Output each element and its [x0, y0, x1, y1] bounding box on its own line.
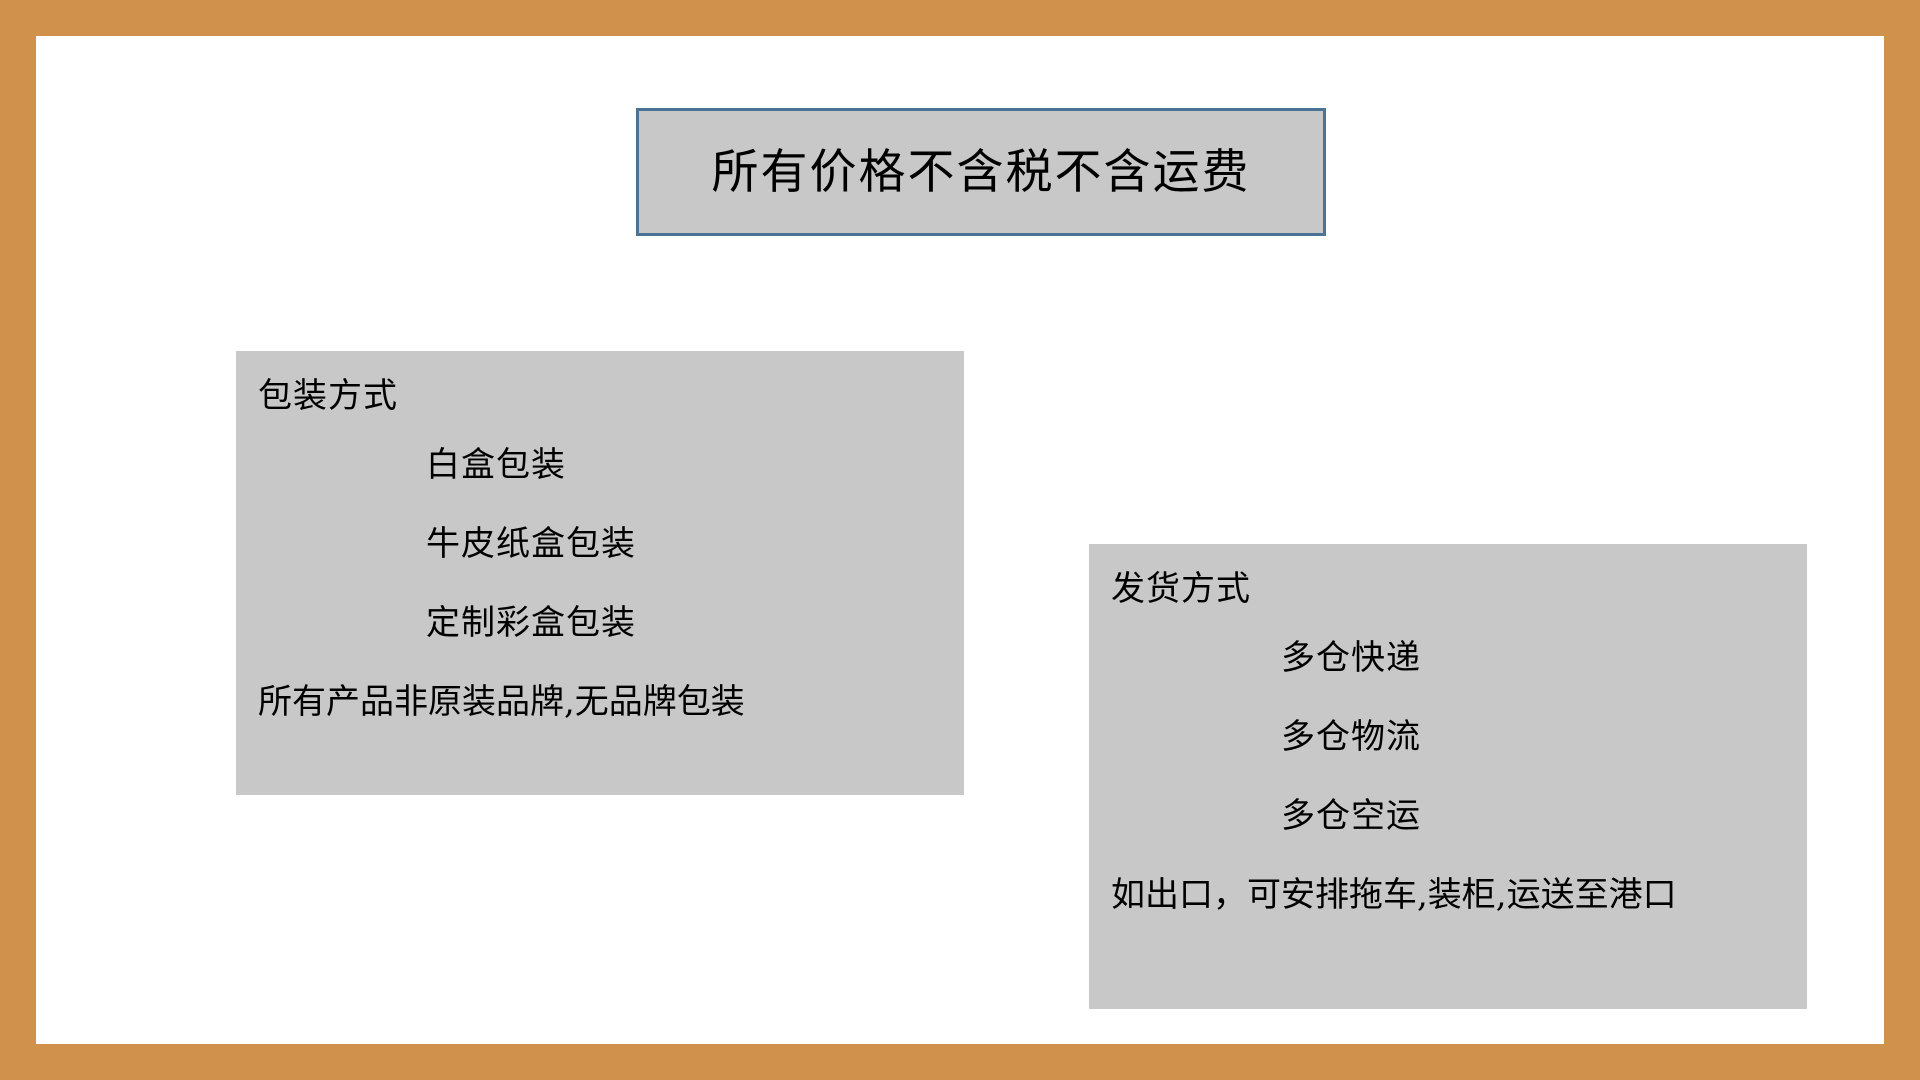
shipping-method-panel: 发货方式 多仓快递 多仓物流 多仓空运 如出口，可安排拖车,装柜,运送至港口: [1089, 544, 1807, 1009]
packaging-method-panel: 包装方式 白盒包装 牛皮纸盒包装 定制彩盒包装 所有产品非原装品牌,无品牌包装: [236, 351, 964, 795]
packaging-item-white-box: 白盒包装: [258, 446, 942, 485]
packaging-heading: 包装方式: [258, 377, 942, 416]
packaging-note: 所有产品非原装品牌,无品牌包装: [258, 683, 942, 722]
slide-canvas: 所有价格不含税不含运费 包装方式 白盒包装 牛皮纸盒包装 定制彩盒包装 所有产品…: [36, 36, 1884, 1044]
title-banner: 所有价格不含税不含运费: [636, 108, 1326, 236]
shipping-item-air-freight: 多仓空运: [1111, 797, 1789, 836]
packaging-item-custom-color-box: 定制彩盒包装: [258, 604, 942, 643]
shipping-item-express: 多仓快递: [1111, 639, 1789, 678]
shipping-note: 如出口，可安排拖车,装柜,运送至港口: [1111, 876, 1789, 915]
slide-orange-border: 所有价格不含税不含运费 包装方式 白盒包装 牛皮纸盒包装 定制彩盒包装 所有产品…: [0, 0, 1920, 1080]
page-title: 所有价格不含税不含运费: [712, 149, 1251, 196]
shipping-heading: 发货方式: [1111, 570, 1789, 609]
packaging-item-kraft-box: 牛皮纸盒包装: [258, 525, 942, 564]
shipping-item-logistics: 多仓物流: [1111, 718, 1789, 757]
